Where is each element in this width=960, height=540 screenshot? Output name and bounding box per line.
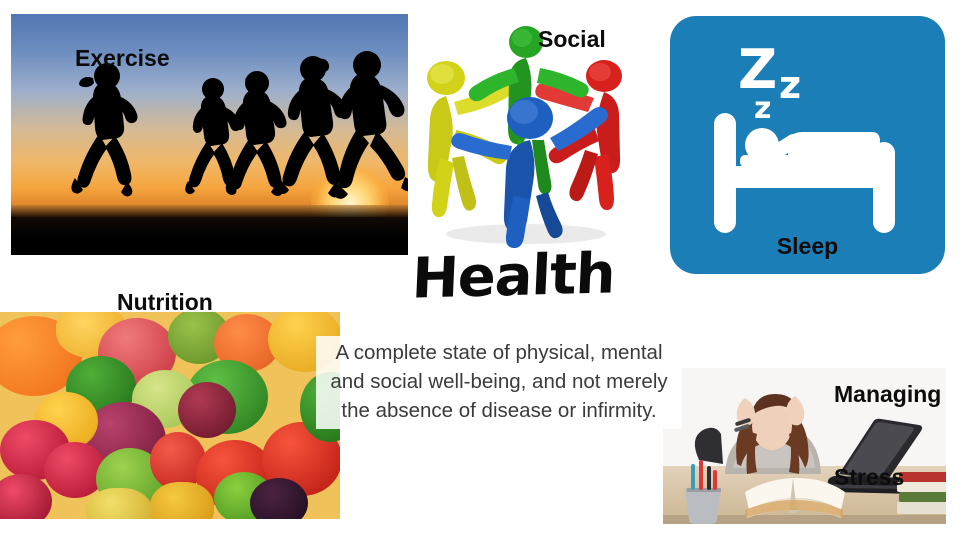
open-book (745, 478, 845, 518)
svg-text:z: z (779, 63, 801, 107)
office-chair (695, 428, 723, 464)
health-infographic-slide: Exercise (0, 0, 960, 540)
runner-silhouette-1 (69, 60, 161, 225)
nutrition-photo (0, 312, 340, 519)
bed-pictogram (714, 113, 895, 233)
produce-item (86, 488, 152, 519)
produce-item (178, 382, 236, 438)
zzz-glyphs: Z z z (738, 38, 801, 126)
stress-label-line-2: Stress (834, 464, 941, 492)
health-definition-text: A complete state of physical, mental and… (316, 336, 682, 429)
sleep-icon-card: Z z z Sleep (670, 16, 945, 274)
stress-label: Managing Stress (834, 326, 941, 540)
stress-label-line-1: Managing (834, 381, 941, 409)
runner-silhouette-5 (329, 47, 408, 233)
svg-text:z: z (754, 91, 771, 126)
page-title: Health (411, 246, 614, 307)
exercise-label: Exercise (75, 46, 170, 72)
exercise-photo (11, 14, 408, 255)
produce-item (150, 482, 214, 519)
sleep-label: Sleep (670, 234, 945, 260)
produce-item (0, 474, 52, 519)
social-label: Social (538, 27, 606, 53)
pen-cup (685, 460, 721, 524)
nutrition-label: Nutrition (117, 290, 213, 316)
